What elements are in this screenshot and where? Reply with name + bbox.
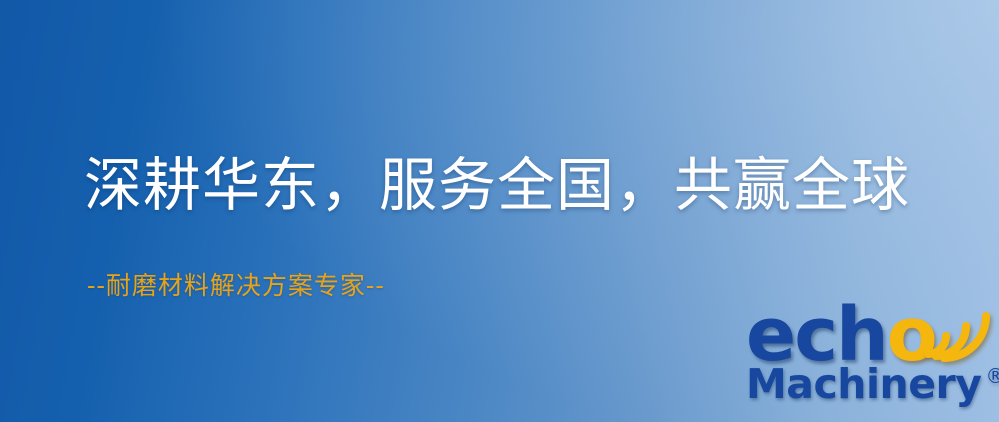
banner-subtitle: --耐磨材料解决方案专家-- bbox=[87, 266, 385, 302]
registered-trademark-icon: ® bbox=[985, 364, 999, 388]
echo-waves-icon bbox=[914, 294, 998, 364]
banner-headline: 深耕华东，服务全国，共赢全球 bbox=[84, 152, 910, 219]
logo-company-text: Machinery bbox=[746, 360, 981, 408]
promo-banner: 深耕华东，服务全国，共赢全球 --耐磨材料解决方案专家-- echo Machi… bbox=[0, 0, 999, 422]
logo-company-name: Machinery® bbox=[746, 364, 999, 405]
echo-machinery-logo[interactable]: echo Machinery® bbox=[742, 296, 994, 420]
